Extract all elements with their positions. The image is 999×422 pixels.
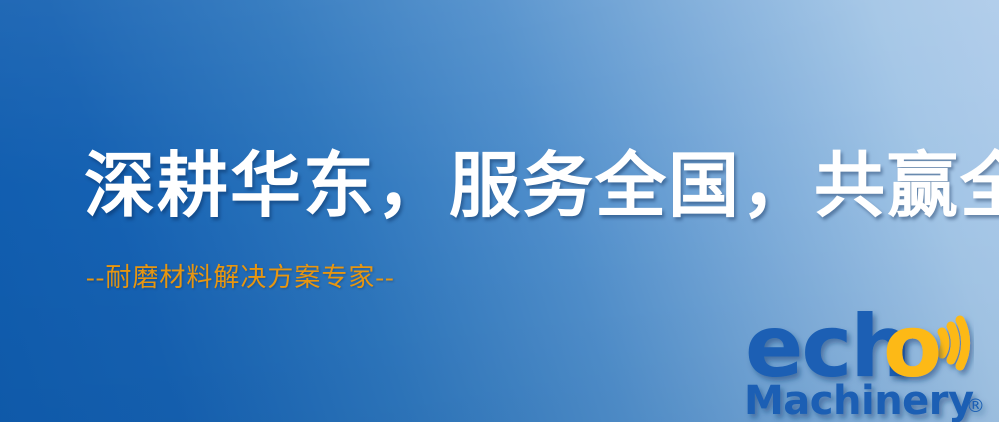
signal-waves-icon — [942, 320, 966, 366]
svg-text:Machinery: Machinery — [744, 378, 974, 422]
logo-tagline: Machinery ® — [744, 378, 985, 422]
company-logo: ech o Machinery ® — [739, 290, 997, 422]
page-subtitle: --耐磨材料解决方案专家-- — [86, 265, 395, 291]
registered-trademark-icon: ® — [966, 395, 985, 417]
hero-banner: 深耕华东，服务全国，共赢全球 --耐磨材料解决方案专家-- ech o — [0, 0, 999, 422]
page-title: 深耕华东，服务全国，共赢全球 — [84, 152, 999, 223]
